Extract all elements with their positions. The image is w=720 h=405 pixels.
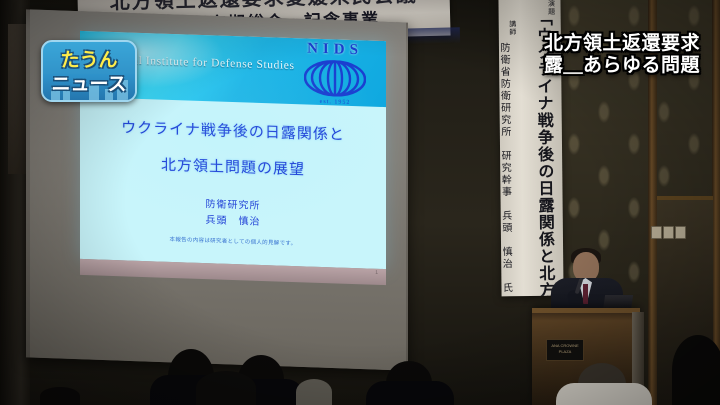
audience-row <box>0 295 720 405</box>
audience-head <box>296 379 332 405</box>
caption-line1: 北方領土返還要求 <box>524 33 720 55</box>
slide-title-line2: 北方領土問題の展望 <box>80 151 386 182</box>
slide-title-line1: ウクライナ戦争後の日露関係と <box>80 115 386 146</box>
station-logo-line1: たうん <box>43 45 135 72</box>
audience-head <box>196 371 256 405</box>
banner-speaker: 防衛省防衛研究所 研究幹事 兵頭 慎治 氏 <box>498 42 513 294</box>
station-logo-badge: たうん ニュース <box>41 40 137 102</box>
broadcast-frame: 北方領土返還要求愛媛県民会議 第47回定期総会・記念事業 National In… <box>0 0 720 405</box>
audience-shoulders <box>556 383 652 405</box>
slide-page-number: 1 <box>375 270 378 276</box>
nids-established: est. 1952 <box>292 98 378 107</box>
nids-acronym: NIDS <box>292 40 378 60</box>
slide-disclaimer: 本報告の内容は研究者としての個人的見解です。 <box>80 232 386 250</box>
caption-line2: 露＿あらゆる問題 <box>524 55 720 77</box>
news-caption: 北方領土返還要求 露＿あらゆる問題 <box>524 33 720 76</box>
audience-shoulders <box>366 381 454 405</box>
left-wall-niche <box>8 24 28 174</box>
station-logo-line2: ニュース <box>43 69 135 96</box>
banner-speaker-label: 講師 <box>507 20 517 36</box>
nids-logo-icon: NIDS est. 1952 <box>292 40 378 107</box>
wall-outlet <box>663 226 674 239</box>
audience-head <box>40 387 80 405</box>
audience-head <box>672 335 720 405</box>
globe-icon <box>304 59 366 97</box>
wall-outlet <box>675 226 686 239</box>
wall-outlet <box>651 226 662 239</box>
